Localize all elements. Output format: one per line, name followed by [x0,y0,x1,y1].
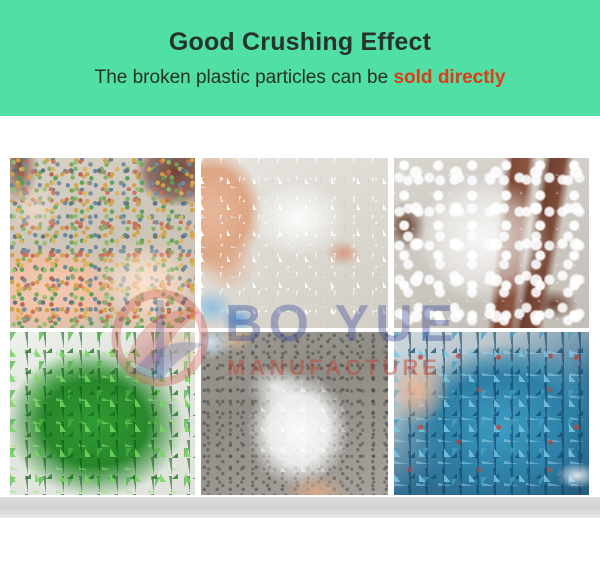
banner-gallery-spacer [0,116,600,158]
gallery-photo-blue-flakes [394,332,589,495]
subtitle-highlight: sold directly [393,67,505,88]
hand-region [394,332,589,495]
footer-band [0,497,600,518]
gallery-photo-clear-crystal-flakes [394,158,589,328]
page-subtitle: The broken plastic particles can be sold… [0,64,600,92]
page-title: Good Crushing Effect [0,26,600,58]
gallery-photo-white-flakes-grey [201,332,388,495]
shred-cluster-highlight [201,158,388,328]
photo-grid [10,158,589,495]
crystal-flake-texture [394,158,589,328]
header-banner: Good Crushing Effect The broken plastic … [0,0,600,116]
hand-region [201,332,388,495]
gallery-photo-green-flakes [10,332,195,495]
hand-highlight [10,158,195,328]
gallery-photo-white-film-shreds [201,158,388,328]
subtitle-prefix: The broken plastic particles can be [95,67,394,88]
gallery-photo-mixed-flakes [10,158,195,328]
footer-whitespace [0,518,600,566]
photo-corner-highlight [10,332,195,495]
gallery-section: BO YUE MANUFACTURE [10,158,590,495]
